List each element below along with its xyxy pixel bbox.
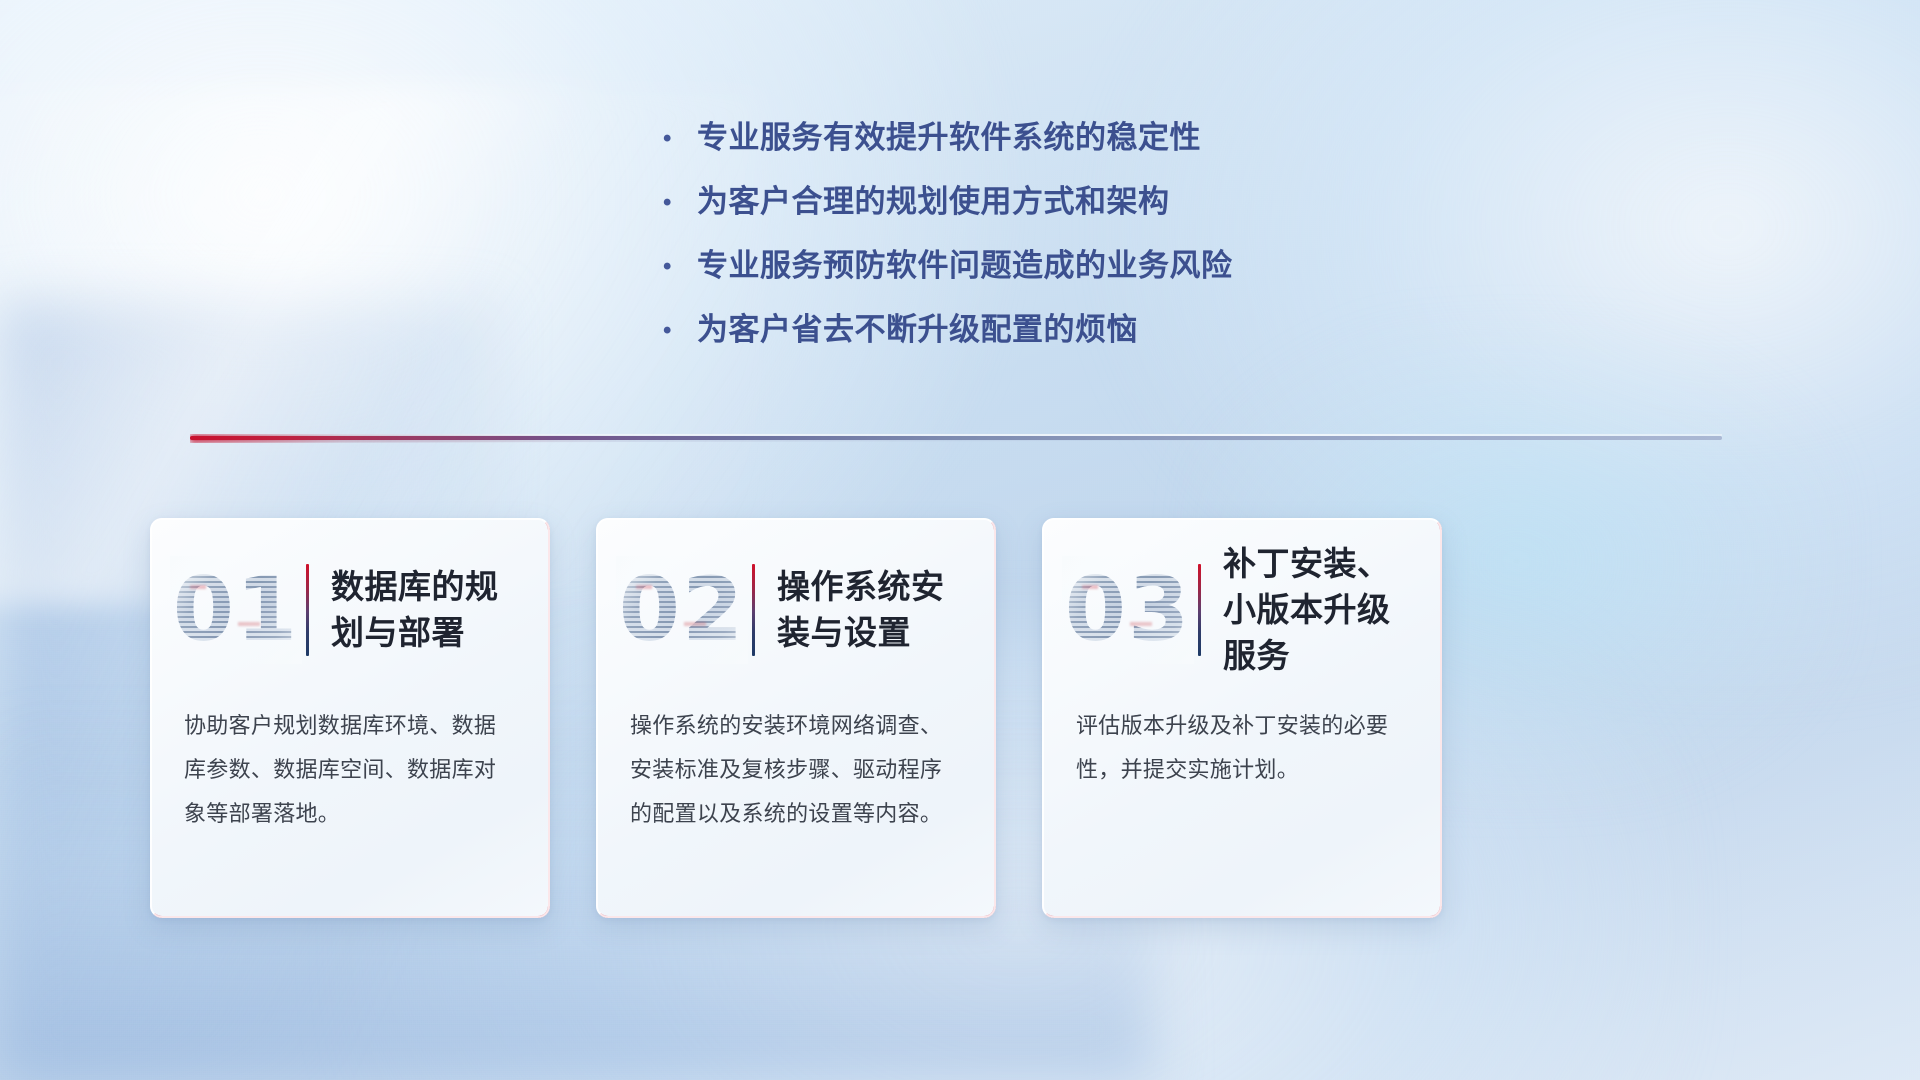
card-number-text: 03 <box>1068 562 1188 658</box>
card-title-divider <box>752 564 755 656</box>
card-body-text: 协助客户规划数据库环境、数据库参数、数据库空间、数据库对象等部署落地。 <box>150 668 550 836</box>
card-title: 数据库的规划与部署 <box>331 564 524 656</box>
service-card-01[interactable]: 01 数据库的规划与部署 协助客户规划数据库环境、数据库参数、数据库空间、数据库… <box>150 518 550 918</box>
number-red-tint-icon <box>1082 585 1098 589</box>
divider-gradient-bar <box>190 436 1722 440</box>
card-title: 补丁安装、小版本升级服务 <box>1223 541 1416 679</box>
card-number-text: 01 <box>176 562 296 658</box>
number-red-tint-icon <box>190 585 206 589</box>
bullet-text: 专业服务有效提升软件系统的稳定性 <box>697 112 1201 157</box>
benefits-bullet-list: • 专业服务有效提升软件系统的稳定性 • 为客户合理的规划使用方式和架构 • 专… <box>663 112 1233 368</box>
card-header: 03 补丁安装、小版本升级服务 <box>1042 518 1442 668</box>
number-red-tint-icon <box>238 622 260 626</box>
section-divider <box>190 434 1722 443</box>
service-card-03[interactable]: 03 补丁安装、小版本升级服务 评估版本升级及补丁安装的必要性，并提交实施计划。 <box>1042 518 1442 918</box>
number-red-tint-icon <box>684 622 706 626</box>
card-title-divider <box>306 564 309 656</box>
number-red-tint-icon <box>1130 622 1152 626</box>
card-number-badge: 02 <box>622 562 742 658</box>
divider-highlight <box>190 434 1722 436</box>
slide-content: • 专业服务有效提升软件系统的稳定性 • 为客户合理的规划使用方式和架构 • 专… <box>0 0 1920 1080</box>
list-item: • 专业服务有效提升软件系统的稳定性 <box>663 112 1233 176</box>
list-item: • 为客户合理的规划使用方式和架构 <box>663 176 1233 240</box>
bullet-text: 为客户合理的规划使用方式和架构 <box>697 176 1170 221</box>
card-title-divider <box>1198 564 1201 656</box>
service-card-list: 01 数据库的规划与部署 协助客户规划数据库环境、数据库参数、数据库空间、数据库… <box>150 518 1442 918</box>
bullet-dot-icon: • <box>663 127 697 151</box>
list-item: • 专业服务预防软件问题造成的业务风险 <box>663 240 1233 304</box>
card-header: 02 操作系统安装与设置 <box>596 518 996 668</box>
bullet-dot-icon: • <box>663 319 697 343</box>
card-number-text: 02 <box>622 562 742 658</box>
bullet-dot-icon: • <box>663 255 697 279</box>
card-number-badge: 03 <box>1068 562 1188 658</box>
card-body-text: 评估版本升级及补丁安装的必要性，并提交实施计划。 <box>1042 668 1442 792</box>
bullet-dot-icon: • <box>663 191 697 215</box>
service-card-02[interactable]: 02 操作系统安装与设置 操作系统的安装环境网络调查、安装标准及复核步骤、驱动程… <box>596 518 996 918</box>
card-number-badge: 01 <box>176 562 296 658</box>
card-header: 01 数据库的规划与部署 <box>150 518 550 668</box>
list-item: • 为客户省去不断升级配置的烦恼 <box>663 304 1233 368</box>
card-body-text: 操作系统的安装环境网络调查、安装标准及复核步骤、驱动程序的配置以及系统的设置等内… <box>596 668 996 836</box>
bullet-text: 专业服务预防软件问题造成的业务风险 <box>697 240 1233 285</box>
card-title: 操作系统安装与设置 <box>777 564 970 656</box>
bullet-text: 为客户省去不断升级配置的烦恼 <box>697 304 1138 349</box>
number-red-tint-icon <box>636 585 652 589</box>
